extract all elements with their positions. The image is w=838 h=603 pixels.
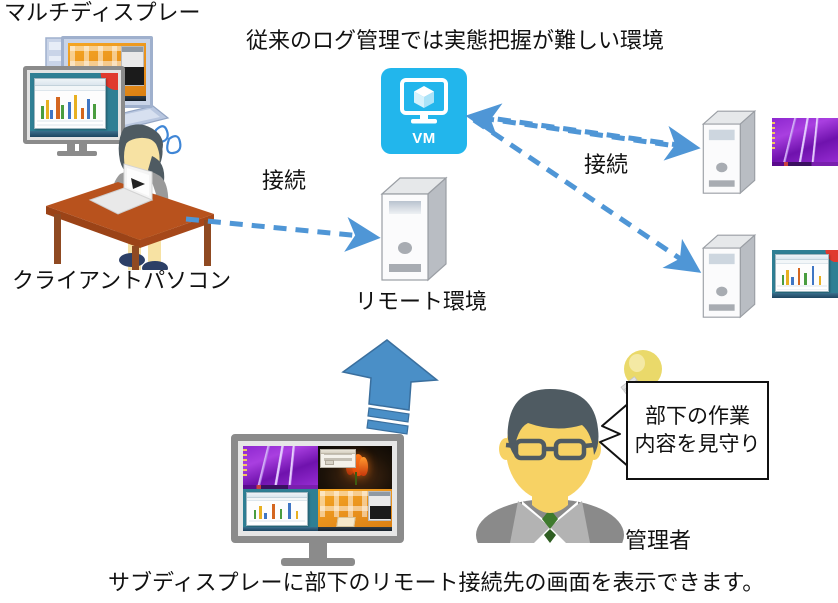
remote-server-bottom-right — [700, 232, 758, 327]
arrow-vm-to-server-bottom — [474, 120, 694, 268]
arrow-server-top-to-vm — [474, 117, 690, 148]
arrow-vm-to-server-top — [476, 116, 692, 147]
remote-server — [378, 174, 450, 291]
chart-screen-bottom-right — [772, 250, 838, 298]
remote-env-label: リモート環境 — [355, 289, 487, 314]
purple-waves-screen-top — [772, 118, 838, 166]
speech-bubble-line2: 内容を見守り — [635, 431, 761, 458]
vm-tile-label: VM — [381, 130, 467, 147]
connect-label-right: 接続 — [584, 152, 628, 177]
client-person-desk — [28, 110, 228, 270]
caption-label: サブディスプレーに部下のリモート接続先の画面を表示できます。 — [108, 570, 764, 595]
connect-label-left: 接続 — [262, 168, 306, 193]
manager-label: 管理者 — [625, 528, 691, 553]
page-title: 従来のログ管理では実態把握が難しい環境 — [246, 28, 664, 53]
vm-monitor-cube-icon — [400, 78, 448, 128]
quad-screen-orange — [318, 489, 393, 532]
remote-server-top-right — [700, 108, 758, 203]
sub-display-stand — [281, 542, 355, 570]
quad-screen-chart — [243, 489, 318, 532]
vm-tile[interactable]: VM — [381, 68, 467, 154]
quad-screen-flower — [318, 446, 393, 489]
multi-display-label: マルチディスプレー — [4, 0, 200, 25]
up-arrow-icon — [325, 338, 443, 441]
quad-screen-purple — [243, 446, 318, 489]
client-pc-label: クライアントパソコン — [12, 268, 231, 293]
speech-bubble: 部下の作業 内容を見守り — [626, 381, 769, 480]
speech-bubble-line1: 部下の作業 — [635, 403, 761, 430]
